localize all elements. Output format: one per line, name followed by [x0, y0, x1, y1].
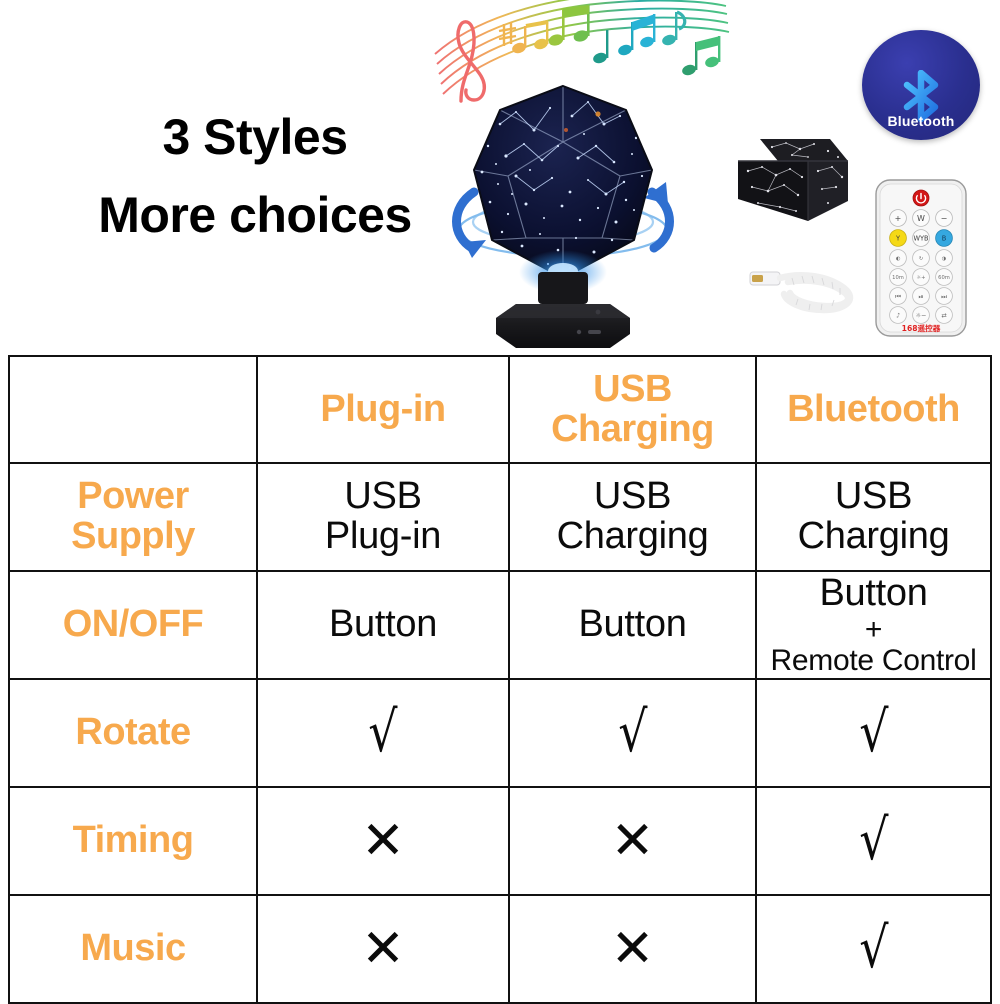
- svg-text:◐: ◐: [896, 256, 901, 262]
- header-cell-bluetooth: Bluetooth: [756, 356, 991, 463]
- cell-line: USB: [761, 477, 986, 517]
- cell-on-off-usb-charging: Button: [509, 571, 756, 679]
- headline-line-2: More choices: [55, 186, 455, 244]
- cell-timing-usb-charging: ✕: [509, 787, 756, 895]
- check-icon: √: [859, 921, 888, 977]
- cell-line: Charging: [514, 517, 751, 557]
- cross-icon: ✕: [361, 923, 405, 975]
- cell-music-usb-charging: ✕: [509, 895, 756, 1003]
- cell-line: USB: [262, 477, 504, 517]
- svg-text:☼−: ☼−: [915, 312, 926, 320]
- svg-text:⏭: ⏭: [941, 293, 947, 301]
- cross-icon: ✕: [361, 815, 405, 867]
- cell-on-off-bluetooth: Button + Remote Control: [756, 571, 991, 679]
- header-bluetooth-label: Bluetooth: [761, 390, 986, 430]
- remote-footer-label: 168遥控器: [902, 323, 941, 333]
- header-usb-charging-line-1: USB: [514, 370, 751, 410]
- row-label-timing-text: Timing: [14, 821, 252, 861]
- header-plug-in-label: Plug-in: [262, 390, 504, 430]
- constellation-gift-box: [738, 133, 848, 229]
- cell-power-supply-bluetooth: USB Charging: [756, 463, 991, 571]
- header-usb-charging-line-2: Charging: [514, 410, 751, 450]
- row-label-power-supply: Power Supply: [9, 463, 257, 571]
- check-icon: √: [618, 705, 647, 761]
- svg-text:☼+: ☼+: [917, 275, 926, 281]
- bluetooth-badge-label: Bluetooth: [862, 113, 980, 129]
- check-icon: √: [859, 813, 888, 869]
- table-header-row: Plug-in USB Charging Bluetooth: [9, 356, 991, 463]
- cell-timing-bluetooth: √: [756, 787, 991, 895]
- hero-banner: 3 Styles More choices: [0, 0, 1000, 355]
- comparison-table: Plug-in USB Charging Bluetooth Power Sup…: [8, 355, 992, 1004]
- remote-control: +W− YWYB B ◐↻◑ 10m☼+60m ⏮ ⏯ ⏭ ♪ ☼− ⇄ 168…: [872, 178, 970, 338]
- row-label-on-off: ON/OFF: [9, 571, 257, 679]
- row-label-power-supply-line-2: Supply: [14, 517, 252, 557]
- usb-cable: [748, 248, 866, 320]
- row-label-rotate: Rotate: [9, 679, 257, 787]
- cell-rotate-bluetooth: √: [756, 679, 991, 787]
- cell-music-bluetooth: √: [756, 895, 991, 1003]
- svg-text:⇄: ⇄: [941, 312, 947, 320]
- cross-icon: ✕: [611, 923, 655, 975]
- check-icon: √: [368, 705, 397, 761]
- table-row-on-off: ON/OFF Button Button Button + Remote Con…: [9, 571, 991, 679]
- svg-text:⏮: ⏮: [895, 293, 901, 301]
- cell-power-supply-plug-in: USB Plug-in: [257, 463, 509, 571]
- svg-text:−: −: [941, 214, 948, 223]
- cell-line: Button: [514, 605, 751, 645]
- star-projector-lamp: [438, 72, 688, 354]
- cell-rotate-usb-charging: √: [509, 679, 756, 787]
- table-row-music: Music ✕ ✕ √: [9, 895, 991, 1003]
- row-label-music-text: Music: [14, 929, 252, 969]
- svg-text:W: W: [917, 214, 925, 223]
- cell-line-plus: +: [761, 614, 986, 645]
- table-row-rotate: Rotate √ √ √: [9, 679, 991, 787]
- svg-text:WYB: WYB: [913, 235, 929, 243]
- svg-text:↻: ↻: [919, 256, 923, 262]
- cell-line: USB: [514, 477, 751, 517]
- svg-text:♪: ♪: [896, 312, 900, 320]
- svg-text:◑: ◑: [942, 256, 947, 262]
- svg-text:10m: 10m: [892, 275, 904, 281]
- row-label-on-off-text: ON/OFF: [14, 605, 252, 645]
- row-label-power-supply-line-1: Power: [14, 477, 252, 517]
- table-row-power-supply: Power Supply USB Plug-in USB Charging US…: [9, 463, 991, 571]
- cell-line: Charging: [761, 517, 986, 557]
- cell-line: Button: [761, 574, 986, 614]
- cell-on-off-plug-in: Button: [257, 571, 509, 679]
- svg-text:+: +: [895, 214, 902, 223]
- cell-line: Button: [262, 605, 504, 645]
- check-icon: √: [859, 705, 888, 761]
- svg-text:⏯: ⏯: [918, 293, 923, 301]
- cell-line: Plug-in: [262, 517, 504, 557]
- bluetooth-badge: Bluetooth: [862, 30, 980, 140]
- row-label-rotate-text: Rotate: [14, 713, 252, 753]
- table-row-timing: Timing ✕ ✕ √: [9, 787, 991, 895]
- cell-music-plug-in: ✕: [257, 895, 509, 1003]
- cell-timing-plug-in: ✕: [257, 787, 509, 895]
- header-cell-usb-charging: USB Charging: [509, 356, 756, 463]
- cross-icon: ✕: [611, 815, 655, 867]
- svg-text:B: B: [942, 235, 947, 243]
- headline-line-1: 3 Styles: [55, 108, 455, 166]
- row-label-music: Music: [9, 895, 257, 1003]
- header-cell-blank: [9, 356, 257, 463]
- cell-power-supply-usb-charging: USB Charging: [509, 463, 756, 571]
- header-cell-plug-in: Plug-in: [257, 356, 509, 463]
- cell-rotate-plug-in: √: [257, 679, 509, 787]
- svg-text:60m: 60m: [938, 275, 950, 281]
- row-label-timing: Timing: [9, 787, 257, 895]
- cell-line-remote-control: Remote Control: [761, 645, 986, 676]
